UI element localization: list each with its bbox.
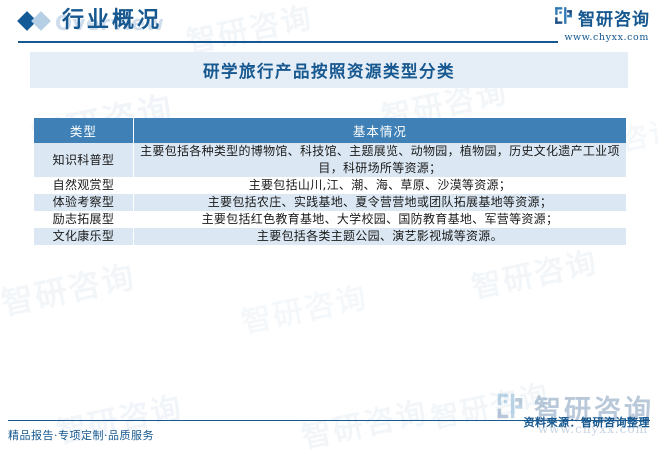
- header-divider: [18, 41, 558, 43]
- table-row: 文化康乐型 主要包括各类主题公园、演艺影视城等资源。: [34, 228, 626, 245]
- cell-desc: 主要包括红色教育基地、大学校园、国防教育基地、军营等资源；: [134, 211, 626, 228]
- page-title: 研学旅行产品按照资源类型分类: [203, 58, 455, 82]
- footer-slogan: 精品报告·专项定制·品质服务: [8, 427, 154, 443]
- cell-type: 文化康乐型: [34, 228, 133, 245]
- brand-logo: 智研咨询 www.chyxx.com: [554, 5, 650, 43]
- classification-table: 类型 基本情况 知识科普型 主要包括各种类型的博物馆、科技馆、主题展览、动物园，…: [33, 118, 627, 245]
- table-row: 体验考察型 主要包括农庄、实践基地、夏令营营地或团队拓展基地等资源；: [34, 194, 626, 211]
- watermark-text: 智研咨询: [237, 272, 371, 342]
- cell-desc: 主要包括各类主题公园、演艺影视城等资源。: [134, 228, 626, 245]
- cell-type: 体验考察型: [34, 194, 133, 211]
- cell-desc: 主要包括山川,江、潮、海、草原、沙漠等资源；: [134, 177, 626, 194]
- section-title-wrap: 行业概况: [62, 4, 162, 38]
- brand-name: 智研咨询: [578, 5, 650, 30]
- section-title-cn: 行业概况: [62, 8, 162, 33]
- column-header-desc: 基本情况: [134, 118, 626, 143]
- cell-type: 知识科普型: [34, 143, 133, 177]
- cell-desc: 主要包括各种类型的博物馆、科技馆、主题展览、动物园，植物园，历史文化遗产工业项目…: [134, 143, 626, 177]
- brand-url[interactable]: www.chyxx.com: [554, 32, 649, 43]
- watermark-text: 智研咨询: [467, 237, 601, 307]
- table-row: 自然观赏型 主要包括山川,江、潮、海、草原、沙漠等资源；: [34, 177, 626, 194]
- table-row: 励志拓展型 主要包括红色教育基地、大学校园、国防教育基地、军营等资源；: [34, 211, 626, 228]
- cell-type: 自然观赏型: [34, 177, 133, 194]
- table-row: 知识科普型 主要包括各种类型的博物馆、科技馆、主题展览、动物园，植物园，历史文化…: [34, 143, 626, 177]
- source-note: 资料来源：智研咨询整理: [524, 414, 651, 430]
- chart-title-band: 研学旅行产品按照资源类型分类: [30, 52, 628, 88]
- table-header-row: 类型 基本情况: [34, 118, 626, 143]
- cell-desc: 主要包括农庄、实践基地、夏令营营地或团队拓展基地等资源；: [134, 194, 626, 211]
- watermark-text: 智研咨询: [0, 251, 139, 324]
- zhiyan-logo-icon: [496, 392, 524, 424]
- table-body: 知识科普型 主要包括各种类型的博物馆、科技馆、主题展览、动物园，植物园，历史文化…: [34, 143, 626, 245]
- column-header-type: 类型: [34, 118, 133, 143]
- table-head: 类型 基本情况: [34, 118, 626, 143]
- zhiyan-logo-icon: [554, 6, 573, 29]
- cell-type: 励志拓展型: [34, 211, 133, 228]
